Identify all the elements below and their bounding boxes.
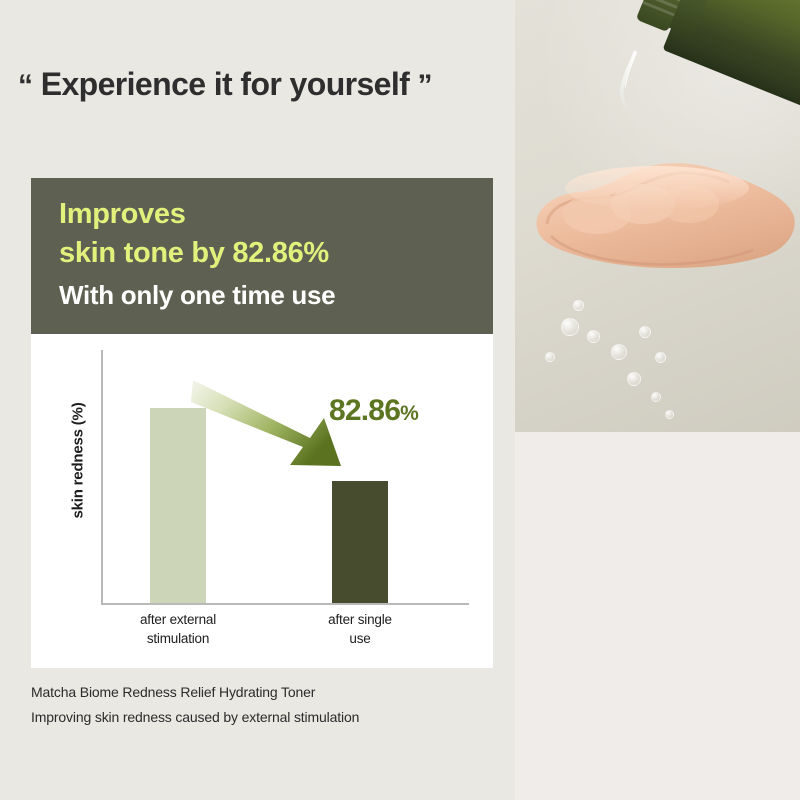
water-droplet: [639, 326, 651, 338]
chart-bar-after-single-use: [332, 481, 388, 603]
water-droplet: [561, 318, 579, 336]
chart-value-number: 82.86: [329, 394, 400, 427]
chart-y-axis-line: [101, 350, 103, 604]
water-droplet: [627, 372, 641, 386]
chart-value-percent-sign: %: [400, 402, 418, 425]
chart-y-axis-label: skin redness (%): [70, 376, 87, 546]
chart-xtick-1-line-1: after single: [285, 610, 435, 629]
water-droplet: [545, 352, 555, 362]
water-stream-icon: [615, 26, 645, 144]
callout-line-3: With only one time use: [59, 276, 493, 314]
left-panel: “ Experience it for yourself ” Improves …: [0, 0, 515, 800]
chart-xtick-1-line-2: use: [285, 629, 435, 648]
open-quote-icon: “: [18, 69, 32, 102]
chart-value-annotation: 82.86%: [329, 394, 418, 428]
chart-xtick-0: after external stimulation: [103, 610, 253, 648]
page-title: “ Experience it for yourself ”: [18, 66, 498, 103]
callout-line-1: Improves: [59, 195, 493, 234]
water-droplet: [651, 392, 661, 402]
water-droplet: [587, 330, 600, 343]
chart-xtick-0-line-2: stimulation: [103, 629, 253, 648]
caption-line-2: Improving skin redness caused by externa…: [31, 705, 501, 730]
product-photo: [515, 0, 800, 432]
headline-text: Experience it for yourself: [41, 66, 410, 102]
caption-line-1: Matcha Biome Redness Relief Hydrating To…: [31, 680, 501, 705]
water-droplet: [573, 300, 584, 311]
water-droplet: [655, 352, 666, 363]
water-droplet: [665, 410, 674, 419]
chart-card: skin redness (%) 82.86%: [31, 334, 493, 668]
chart-xtick-1: after single use: [285, 610, 435, 648]
infographic-page: “ Experience it for yourself ” Improves …: [0, 0, 800, 800]
callout-banner: Improves skin tone by 82.86% With only o…: [31, 178, 493, 334]
callout-line-2: skin tone by 82.86%: [59, 234, 493, 273]
water-droplet: [611, 344, 627, 360]
close-quote-icon: ”: [418, 69, 432, 102]
chart-x-axis-line: [101, 603, 469, 605]
hand-illustration: [527, 132, 795, 308]
chart-xtick-0-line-1: after external: [103, 610, 253, 629]
right-panel: 01 Soothing skin redness, Cooling and ca…: [515, 0, 800, 800]
chart-caption: Matcha Biome Redness Relief Hydrating To…: [31, 680, 501, 730]
